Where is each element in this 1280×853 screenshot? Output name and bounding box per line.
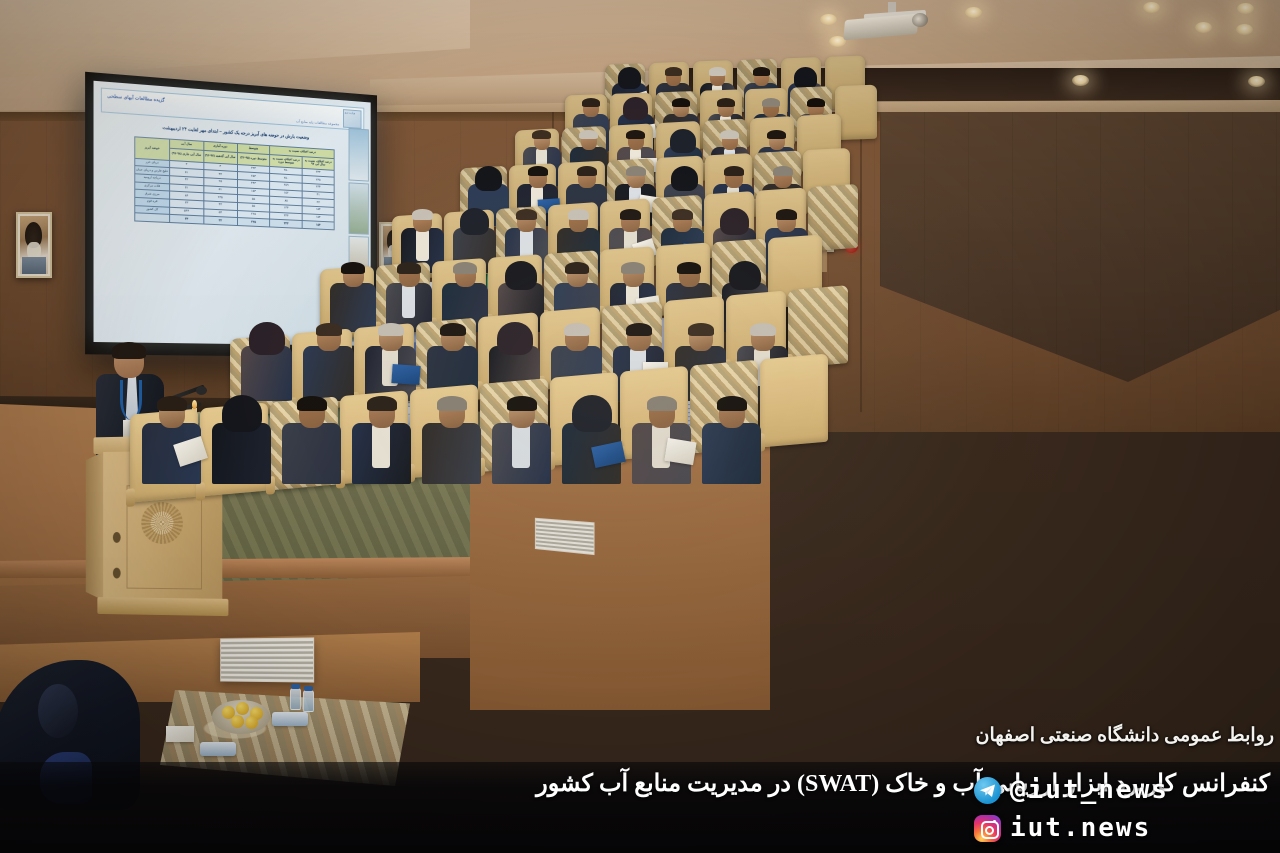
audience-hair: [672, 98, 690, 107]
slide-header-left: گزیده مطالعات آبهای سطحی: [107, 93, 165, 103]
audience-member: [142, 393, 203, 481]
audience-hair: [397, 262, 421, 274]
fruit: [231, 715, 244, 728]
audience-headscarf: [794, 67, 818, 89]
projector-lens: [911, 12, 928, 28]
audience-hair: [582, 98, 600, 107]
audience-hair: [677, 262, 701, 274]
audience-hair: [720, 130, 739, 139]
audience-torso: [282, 423, 340, 485]
audience-member: [562, 393, 623, 481]
audience-headscarf: [670, 129, 696, 153]
audience-hair: [773, 166, 793, 176]
audience-hair: [750, 323, 776, 336]
telegram-icon[interactable]: [974, 777, 1001, 804]
podium-vent-hole: [113, 532, 121, 543]
slide-header-right: مجموعه مطالعات پایه منابع آب: [296, 119, 339, 126]
audience-hair: [724, 166, 744, 176]
audience-hair: [709, 67, 726, 76]
audience-hair: [564, 323, 590, 336]
audience-hair: [568, 209, 590, 220]
fruit: [236, 702, 249, 715]
water-bottle: [303, 690, 314, 712]
ceiling-spotlight: [1248, 76, 1265, 87]
podium-emblem: [141, 502, 183, 544]
projector-body: [843, 14, 918, 41]
audience-hair: [807, 98, 825, 107]
audience-member: [365, 320, 419, 398]
audience-hair: [620, 209, 642, 220]
audience-torso: [422, 423, 480, 485]
audience-headscarf: [572, 395, 612, 432]
audience-hair: [717, 98, 735, 107]
podium-base: [97, 597, 228, 616]
audience-hair: [528, 166, 548, 176]
audience-hair: [579, 130, 598, 139]
audience-member: [386, 259, 435, 329]
audience-headscarf: [475, 166, 502, 191]
telegram-row[interactable]: @iut_news: [974, 775, 1169, 805]
audience-member: [330, 259, 379, 329]
audience-hair: [507, 396, 537, 411]
audience-headscarf: [497, 322, 533, 355]
audience-shirt: [402, 284, 416, 318]
conference-photo: EXIT خروج گزیده مطالعات آبهای سطحی مجموع…: [0, 0, 1280, 853]
slide-table-cell: ۲۲: [204, 216, 237, 225]
conference-folder: [391, 364, 420, 385]
bottle-cap: [291, 684, 300, 689]
audience-hair: [717, 396, 747, 411]
audience-headscarf: [729, 261, 761, 290]
audience-member: [352, 393, 413, 481]
audience-hair: [440, 323, 466, 336]
caption-bar: کنفرانس کاربرد ابزار ارزیابی آب و خاک (S…: [0, 762, 1280, 853]
audience-hair: [665, 67, 682, 76]
audience-member: [422, 393, 483, 481]
framed-portrait-left: [16, 212, 52, 278]
audience-hair: [532, 130, 551, 139]
audience-member: [212, 393, 273, 481]
water-bottle: [290, 688, 301, 710]
audience-hair: [341, 262, 365, 274]
bottle-cap: [304, 686, 313, 691]
wall-seam: [860, 112, 862, 412]
audience-hair: [453, 262, 477, 274]
audience-hair: [565, 262, 589, 274]
audience-hair: [753, 67, 770, 76]
slide-thumb: [349, 128, 369, 181]
audience-member: [282, 393, 343, 481]
audience-member: [241, 320, 295, 398]
audience-torso: [702, 423, 760, 485]
ceiling-spotlight: [820, 14, 837, 25]
audience-hair: [621, 262, 645, 274]
ceiling-spotlight: [965, 7, 982, 18]
audience-member: [303, 320, 357, 398]
audience-headscarf: [671, 166, 698, 191]
slide-table-cell: ۳۳: [169, 215, 203, 224]
air-vent-icon: [220, 637, 314, 682]
auditorium-seat[interactable]: [760, 354, 828, 448]
projector-icon: [836, 2, 954, 42]
audience-shirt: [416, 229, 429, 260]
audience-member: [702, 393, 763, 481]
slide-table-body: ۳۴۴۲۵۰۳۳۴۴۳دریای خزر۲۴۵۲۵۰۲۵۴۴۴۵۱خلیج فا…: [135, 158, 334, 230]
audience-headscarf: [222, 395, 262, 432]
watermark: روابط عمومی دانشگاه صنعتی اصفهان: [976, 724, 1274, 747]
social-handles: @iut_news iut.news: [974, 767, 1274, 851]
air-vent-icon: [535, 518, 595, 555]
audience-hair: [647, 396, 677, 411]
telegram-handle[interactable]: @iut_news: [1010, 775, 1169, 805]
audience-headscarf: [460, 208, 489, 235]
slide-table-cell: ۲۴۴: [270, 219, 302, 228]
audience-hair: [626, 130, 645, 139]
fruit: [245, 716, 258, 729]
audience-hair: [378, 323, 404, 336]
slide-logo: وزارت نیرو: [343, 109, 361, 129]
ceiling-spotlight: [1236, 24, 1253, 35]
portrait-body: [22, 257, 47, 274]
audience-hair: [157, 396, 187, 411]
ceiling-spotlight: [1237, 3, 1254, 14]
audience-hair: [316, 323, 342, 336]
audience-shirt: [372, 424, 390, 467]
slide-table-cell: ۲۲۵: [237, 218, 270, 227]
audience-hair: [516, 209, 538, 220]
audience-hair: [437, 396, 467, 411]
audience-member: [492, 393, 553, 481]
seat-armrest: [126, 488, 135, 507]
handout-paper: [665, 438, 697, 465]
audience-hair: [626, 323, 652, 336]
audience-headscarf: [505, 261, 537, 290]
slide-table-row-label: [135, 213, 170, 222]
audience-hair: [577, 166, 597, 176]
instagram-icon[interactable]: [974, 815, 1001, 842]
ceiling-spotlight: [1072, 75, 1089, 86]
ceiling-spotlight: [1143, 2, 1160, 13]
slide-thumb: [349, 182, 369, 235]
slide-logo-label: وزارت نیرو: [345, 111, 355, 115]
audience-hair: [762, 98, 780, 107]
serving-tray: [272, 712, 308, 726]
serving-tray: [200, 742, 236, 756]
audience-shirt: [512, 424, 530, 467]
audience-hair: [412, 209, 434, 220]
instagram-handle[interactable]: iut.news: [1010, 813, 1151, 843]
audience-hair: [672, 209, 694, 220]
audience-headscarf: [249, 322, 285, 355]
presenter-hair: [112, 342, 146, 359]
slide-table-cell: ۱۵۴: [302, 221, 334, 230]
slide-data-table: درصد اختلاف نسبت به متوسط دوره آماری سال…: [134, 136, 334, 230]
th-group-4: حوضه آبریز: [135, 137, 170, 160]
audience-headscarf: [720, 208, 749, 235]
podium-vent-hole: [113, 568, 121, 579]
chador-highlight: [38, 684, 78, 738]
instagram-dot: [993, 820, 996, 823]
audience-hair: [688, 323, 714, 336]
audience-hair: [776, 209, 798, 220]
audience-headscarf: [618, 67, 642, 89]
audience-hair: [367, 396, 397, 411]
audience-member: [632, 393, 693, 481]
ceiling-spotlight: [1195, 22, 1212, 33]
seat-armrest: [196, 482, 205, 501]
portrait-image: [20, 216, 48, 274]
audience-hair: [626, 166, 646, 176]
paper-stack: [166, 726, 194, 742]
instagram-row[interactable]: iut.news: [974, 813, 1151, 843]
audience-headscarf: [623, 97, 648, 120]
audience-hair: [767, 130, 786, 139]
audience-hair: [297, 396, 327, 411]
